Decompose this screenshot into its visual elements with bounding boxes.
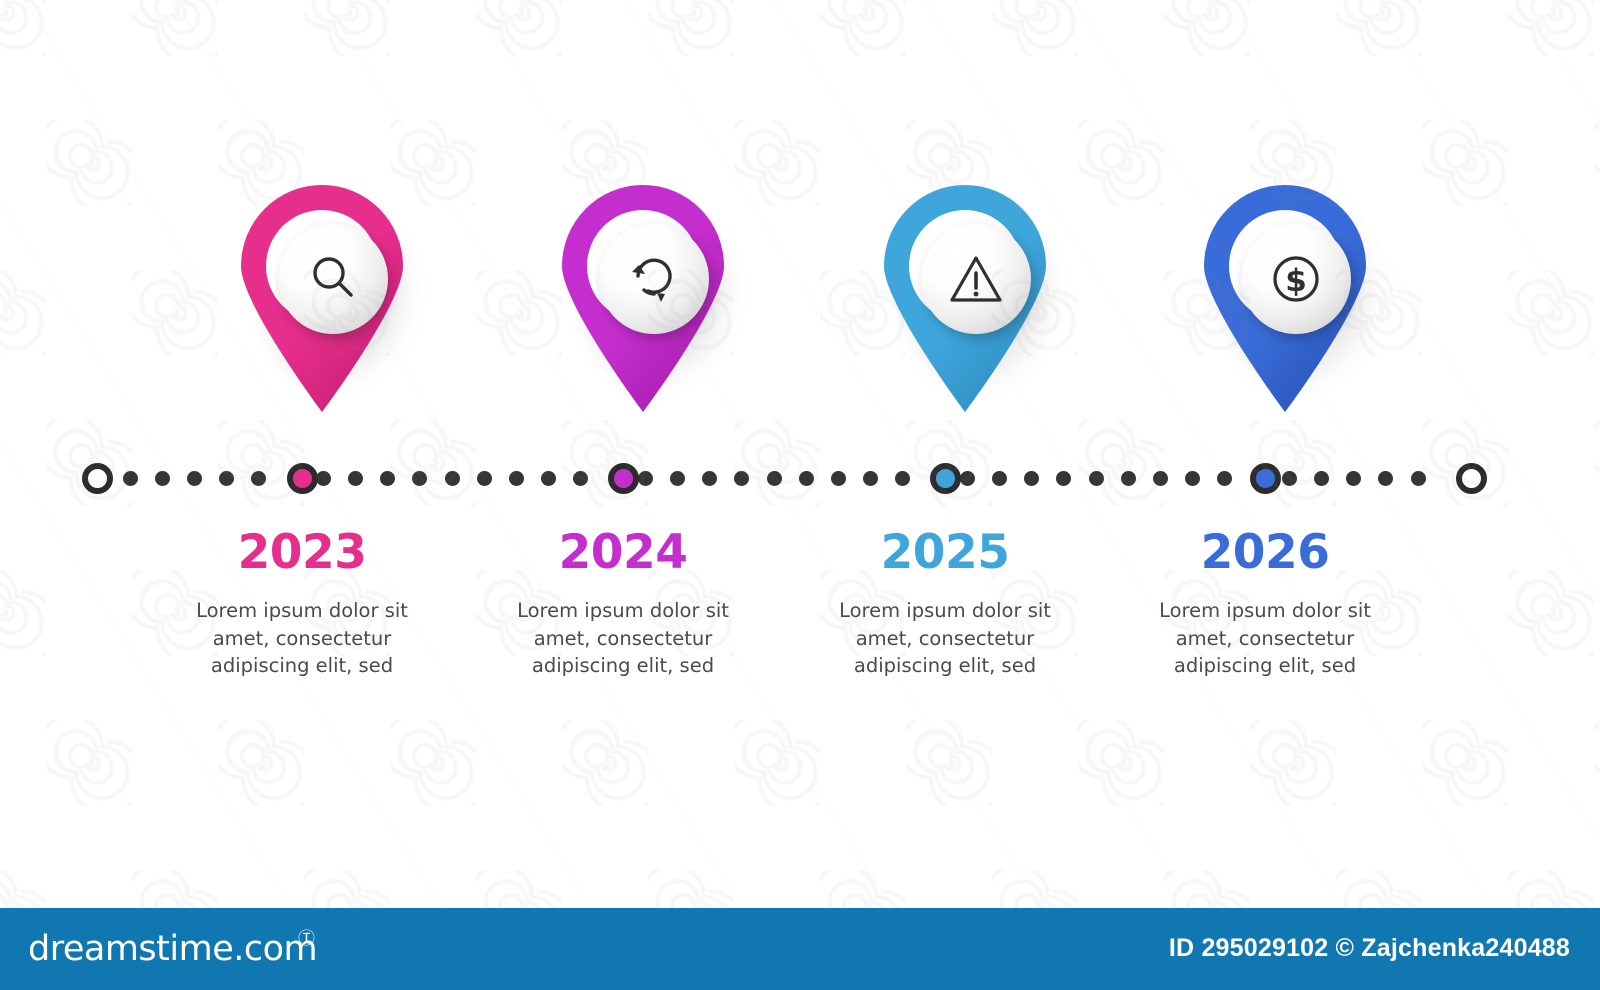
timeline-dot: [670, 471, 685, 486]
watermark-spiral-icon: [46, 720, 132, 806]
timeline-dot: [1217, 471, 1232, 486]
timeline-dot: [1153, 471, 1168, 486]
label-column-2024: 2024Lorem ipsum dolor sit amet, consecte…: [473, 528, 773, 680]
label-column-2025: 2025Lorem ipsum dolor sit amet, consecte…: [795, 528, 1095, 680]
watermark-spiral-icon: [0, 0, 46, 56]
timeline-dot: [509, 471, 524, 486]
year-label: 2025: [795, 528, 1095, 578]
timeline-dot: [187, 471, 202, 486]
watermark-spiral-icon: [992, 0, 1078, 56]
timeline-dot: [445, 471, 460, 486]
timeline-track: [0, 460, 1600, 500]
timeline-dot: [541, 471, 556, 486]
pin-body: $: [1197, 182, 1373, 414]
timeline-dot: [992, 471, 1007, 486]
svg-text:$: $: [1285, 263, 1307, 299]
dreamstime-logo-text: dreamstime.com: [28, 929, 317, 969]
watermark-spiral-icon: [1508, 0, 1594, 56]
step-description: Lorem ipsum dolor sit amet, consectetur …: [795, 597, 1095, 680]
timeline-dot: [123, 471, 138, 486]
timeline-marker-2023[interactable]: [287, 463, 318, 494]
timeline-marker-2025[interactable]: [930, 463, 961, 494]
pin-sphere: $: [1241, 224, 1351, 334]
watermark-spiral-icon: [1336, 0, 1422, 56]
pins-row: $: [0, 182, 1600, 422]
timeline-dot: [960, 471, 975, 486]
timeline-dot: [1185, 471, 1200, 486]
step-description: Lorem ipsum dolor sit amet, consectetur …: [473, 597, 773, 680]
watermark-spiral-icon: [218, 720, 304, 806]
registered-trademark-icon: Ⓣ: [298, 924, 315, 949]
image-credit: ID 295029102 © Zajchenka240488: [1169, 934, 1570, 963]
timeline-dot: [767, 471, 782, 486]
timeline-end-endpoint: [1456, 463, 1487, 494]
timeline-dot: [638, 471, 653, 486]
infographic-canvas: $ 2023Lorem ipsum dolor sit amet, consec…: [0, 0, 1600, 990]
timeline-dot: [573, 471, 588, 486]
timeline-dot: [477, 471, 492, 486]
watermark-spiral-icon: [906, 720, 992, 806]
watermark-spiral-icon: [132, 0, 218, 56]
watermark-spiral-icon: [1078, 720, 1164, 806]
timeline-dot: [1314, 471, 1329, 486]
timeline-dot: [348, 471, 363, 486]
watermark-spiral-icon: [390, 720, 476, 806]
watermark-spiral-icon: [734, 720, 820, 806]
timeline-dot: [155, 471, 170, 486]
timeline-marker-2024[interactable]: [608, 463, 639, 494]
pin-sphere: [278, 224, 388, 334]
pin-sphere: [921, 224, 1031, 334]
timeline-marker-2026[interactable]: [1250, 463, 1281, 494]
step-description: Lorem ipsum dolor sit amet, consectetur …: [1115, 597, 1415, 680]
watermark-spiral-icon: [562, 720, 648, 806]
pin-2025[interactable]: [851, 182, 1081, 422]
year-label: 2026: [1115, 528, 1415, 578]
pin-2026[interactable]: $: [1171, 182, 1401, 422]
labels-row: 2023Lorem ipsum dolor sit amet, consecte…: [0, 528, 1600, 728]
timeline-dot: [1121, 471, 1136, 486]
timeline-dot: [1024, 471, 1039, 486]
label-column-2023: 2023Lorem ipsum dolor sit amet, consecte…: [152, 528, 452, 680]
timeline-dot: [316, 471, 331, 486]
pin-2024[interactable]: [529, 182, 759, 422]
timeline-dot: [251, 471, 266, 486]
timeline-dot: [412, 471, 427, 486]
timeline-dot: [1378, 471, 1393, 486]
timeline-dot: [1282, 471, 1297, 486]
timeline-dot: [1056, 471, 1071, 486]
year-label: 2023: [152, 528, 452, 578]
timeline-dot: [1089, 471, 1104, 486]
magnifier-icon: [304, 250, 362, 308]
watermark-spiral-icon: [1594, 720, 1600, 806]
timeline-dot: [799, 471, 814, 486]
watermark-spiral-icon: [476, 0, 562, 56]
timeline-dot: [895, 471, 910, 486]
watermark-spiral-icon: [1250, 720, 1336, 806]
timeline-start-endpoint: [82, 463, 113, 494]
pin-body: [555, 182, 731, 414]
timeline-dot: [219, 471, 234, 486]
pin-body: [877, 182, 1053, 414]
watermark-spiral-icon: [1422, 720, 1508, 806]
dollar-coin-icon: $: [1267, 250, 1325, 308]
watermark-spiral-icon: [820, 0, 906, 56]
timeline-dot: [1411, 471, 1426, 486]
timeline-dot: [380, 471, 395, 486]
pin-2023[interactable]: [208, 182, 438, 422]
timeline-dot: [734, 471, 749, 486]
year-label: 2024: [473, 528, 773, 578]
refresh-icon: [624, 250, 684, 308]
step-description: Lorem ipsum dolor sit amet, consectetur …: [152, 597, 452, 680]
dreamstime-logo: dreamstime.com Ⓣ: [28, 926, 317, 972]
warning-triangle-icon: [947, 251, 1005, 307]
watermark-spiral-icon: [304, 0, 390, 56]
watermark-spiral-icon: [1164, 0, 1250, 56]
timeline-dot: [831, 471, 846, 486]
pin-sphere: [599, 224, 709, 334]
label-column-2026: 2026Lorem ipsum dolor sit amet, consecte…: [1115, 528, 1415, 680]
watermark-spiral-icon: [648, 0, 734, 56]
pin-body: [234, 182, 410, 414]
timeline-dot: [1346, 471, 1361, 486]
timeline-dot: [702, 471, 717, 486]
timeline-dot: [863, 471, 878, 486]
footer-bar: dreamstime.com Ⓣ ID 295029102 © Zajchenk…: [0, 908, 1600, 990]
